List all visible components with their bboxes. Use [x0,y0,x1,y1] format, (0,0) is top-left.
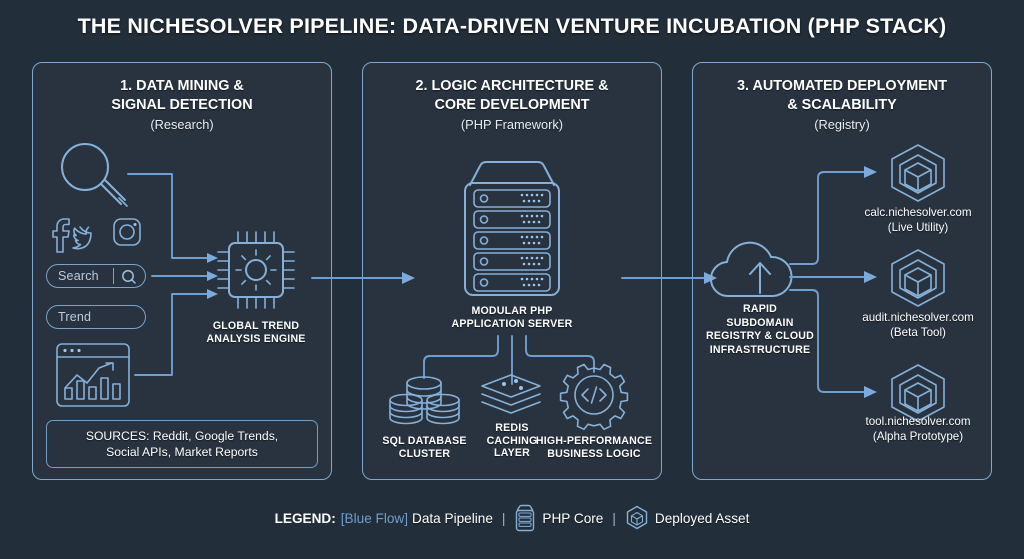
asset-status-calc: (Live Utility) [833,221,1003,236]
component-label-business-logic: HIGH-PERFORMANCE BUSINESS LOGIC [534,435,654,460]
diagram-canvas: THE NICHESOLVER PIPELINE: DATA-DRIVEN VE… [0,0,1024,559]
page-title: THE NICHESOLVER PIPELINE: DATA-DRIVEN VE… [0,14,1024,39]
deployed-asset-icon [625,505,649,534]
asset-domain-calc: calc.nichesolver.com [833,206,1003,221]
panel-2-header: 2. LOGIC ARCHITECTURE & CORE DEVELOPMENT… [363,77,661,135]
panel-1-header: 1. DATA MINING & SIGNAL DETECTION (Resea… [33,77,331,135]
global-trend-engine-label: GLOBAL TREND ANALYSIS ENGINE [182,320,330,345]
trend-pill[interactable]: Trend [46,305,146,329]
asset-label-audit: audit.nichesolver.com (Beta Tool) [833,311,1003,340]
asset-label-calc: calc.nichesolver.com (Live Utility) [833,206,1003,235]
engine-label-line1: GLOBAL TREND [182,320,330,333]
engine-label-line2: ANALYSIS ENGINE [182,333,330,346]
legend: LEGEND: [Blue Flow] Data Pipeline | PHP … [0,503,1024,534]
trend-pill-value: Trend [47,310,91,324]
panel-1-heading-line2: SIGNAL DETECTION [33,96,331,115]
panel-3-subtitle: (Registry) [693,115,991,135]
search-input[interactable]: Search [46,264,146,288]
panel-3-header: 3. AUTOMATED DEPLOYMENT & SCALABILITY (R… [693,77,991,135]
sources-box: SOURCES: Reddit, Google Trends, Social A… [46,420,318,468]
logic-label-line1: HIGH-PERFORMANCE [534,435,654,448]
asset-domain-audit: audit.nichesolver.com [833,311,1003,326]
legend-php-label: PHP Core [542,511,603,526]
search-icon[interactable] [120,269,138,290]
panel-1-subtitle: (Research) [33,115,331,135]
component-label-sql: SQL DATABASE CLUSTER [372,435,477,460]
asset-status-tool: (Alpha Prototype) [833,430,1003,445]
panel-3-heading-line2: & SCALABILITY [693,96,991,115]
sql-label-line2: CLUSTER [372,448,477,461]
cloud-label-line4: INFRASTRUCTURE [700,344,820,358]
panel-3-heading-line1: 3. AUTOMATED DEPLOYMENT [693,77,991,96]
search-divider [113,268,115,284]
logic-label-line2: BUSINESS LOGIC [534,448,654,461]
server-label-line2: APPLICATION SERVER [437,318,587,331]
legend-flow-token: [Blue Flow] [341,511,408,526]
search-input-value: Search [47,269,99,283]
modular-php-server-label: MODULAR PHP APPLICATION SERVER [437,305,587,330]
asset-status-audit: (Beta Tool) [833,326,1003,341]
panel-2-heading-line2: CORE DEVELOPMENT [363,96,661,115]
legend-asset-label: Deployed Asset [655,511,749,526]
php-core-icon [514,504,536,535]
asset-domain-tool: tool.nichesolver.com [833,415,1003,430]
sql-label-line1: SQL DATABASE [372,435,477,448]
panel-2-subtitle: (PHP Framework) [363,115,661,135]
panel-1-heading-line1: 1. DATA MINING & [33,77,331,96]
asset-label-tool: tool.nichesolver.com (Alpha Prototype) [833,415,1003,444]
cloud-registry-label: RAPID SUBDOMAIN REGISTRY & CLOUD INFRAST… [700,303,820,357]
legend-prefix: LEGEND: [275,511,336,526]
sources-line1: SOURCES: Reddit, Google Trends, [86,429,278,443]
legend-separator-1: | [502,511,506,526]
legend-flow-label: Data Pipeline [412,511,493,526]
panel-logic-architecture: 2. LOGIC ARCHITECTURE & CORE DEVELOPMENT… [362,62,662,480]
cloud-label-line2: SUBDOMAIN [700,317,820,331]
legend-separator-2: | [612,511,616,526]
cloud-label-line3: REGISTRY & CLOUD [700,330,820,344]
panel-2-heading-line1: 2. LOGIC ARCHITECTURE & [363,77,661,96]
cloud-label-line1: RAPID [700,303,820,317]
server-label-line1: MODULAR PHP [437,305,587,318]
redis-label-line1: REDIS [474,422,550,435]
sources-line2: Social APIs, Market Reports [106,445,258,459]
